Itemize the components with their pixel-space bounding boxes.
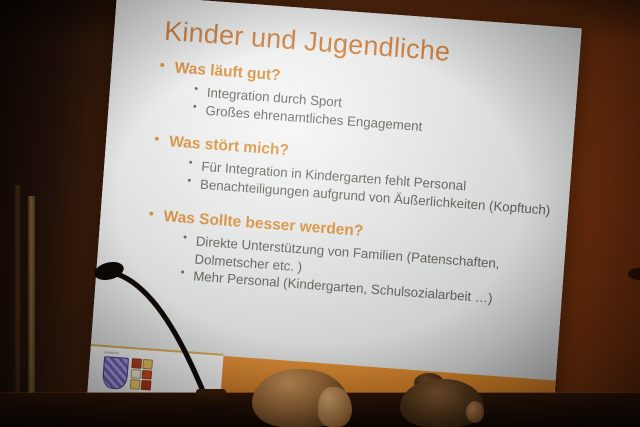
crest-cell — [142, 370, 153, 380]
slide-section-2: Was stört mich? Für Integration in Kinde… — [149, 131, 570, 220]
crest-cell — [143, 359, 154, 369]
audience-head-left-face — [318, 387, 352, 427]
crest-grid-icon — [130, 358, 153, 390]
crest-cell — [141, 380, 152, 390]
crest-cell — [131, 369, 142, 379]
slide-section-1: Was läuft gut? Integration durch Sport G… — [154, 57, 575, 146]
slide-section-3: Was Sollte besser werden? Direkte Unters… — [142, 206, 565, 313]
microphone-base — [196, 389, 226, 411]
crest-cell — [130, 379, 141, 389]
audience-head-right-face — [466, 401, 484, 423]
crest-cell — [131, 358, 142, 368]
wall-pole-left — [14, 185, 21, 427]
coat-of-arms-icon — [102, 356, 153, 392]
presentation-slide: Kinder und Jugendliche Was läuft gut? In… — [87, 0, 581, 427]
shield-icon — [102, 356, 129, 390]
slide-body: Was läuft gut? Integration durch Sport G… — [142, 57, 576, 313]
projection-screen: Kinder und Jugendliche Was läuft gut? In… — [87, 0, 581, 427]
photo-scene: Kinder und Jugendliche Was läuft gut? In… — [0, 0, 640, 427]
